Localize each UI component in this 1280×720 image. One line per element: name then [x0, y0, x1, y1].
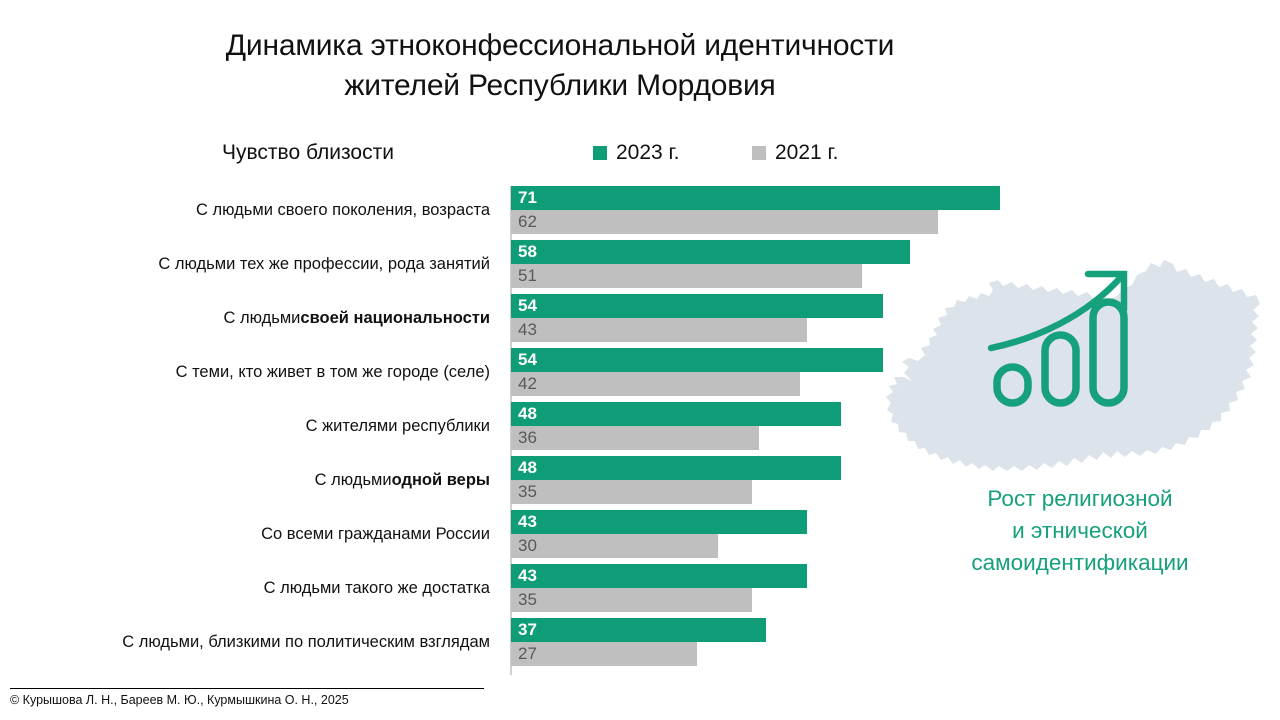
- legend-item-2021[interactable]: 2021 г.: [752, 138, 838, 168]
- bar-2023-value: 43: [511, 564, 537, 588]
- bar-2021[interactable]: 43: [511, 318, 807, 342]
- bar-2021-value: 36: [511, 426, 537, 450]
- bar-2021-value: 43: [511, 318, 537, 342]
- bar-2021-value: 42: [511, 372, 537, 396]
- legend-label-2023: 2023 г.: [616, 138, 679, 168]
- bar-2023[interactable]: 54: [511, 348, 883, 372]
- copyright-text: © Курышова Л. Н., Бареев М. Ю., Курмышки…: [10, 692, 484, 709]
- category-label: С людьми своей национальности: [223, 294, 490, 342]
- legend-label-2021: 2021 г.: [775, 138, 838, 168]
- category-label: С людьми такого же достатка: [264, 564, 490, 612]
- category-label: С людьми тех же профессии, рода занятий: [158, 240, 490, 288]
- category-label-emphasis: своей национальности: [300, 308, 490, 329]
- bar-2021-value: 35: [511, 480, 537, 504]
- bar-2021-value: 27: [511, 642, 537, 666]
- legend: Чувство близости 2023 г. 2021 г.: [0, 138, 1280, 172]
- bar-2023-value: 37: [511, 618, 537, 642]
- category-row: С людьми своего поколения, возраста7162: [0, 186, 1280, 234]
- bar-2021-value: 35: [511, 588, 537, 612]
- category-label: С людьми, близкими по политическим взгля…: [122, 618, 490, 666]
- bar-2023[interactable]: 58: [511, 240, 910, 264]
- legend-item-2023[interactable]: 2023 г.: [593, 138, 679, 168]
- growing-bars-icon: [997, 302, 1124, 403]
- category-row: С людьми, близкими по политическим взгля…: [0, 618, 1280, 666]
- bar-2023[interactable]: 43: [511, 564, 807, 588]
- bar-2023-value: 48: [511, 456, 537, 480]
- bar-2021[interactable]: 27: [511, 642, 697, 666]
- category-label-emphasis: одной веры: [392, 470, 490, 491]
- bar-2023-value: 43: [511, 510, 537, 534]
- bar-2021[interactable]: 35: [511, 588, 752, 612]
- bar-2023[interactable]: 71: [511, 186, 1000, 210]
- bar-2023-value: 58: [511, 240, 537, 264]
- bar-2023-value: 54: [511, 348, 537, 372]
- bar-2021[interactable]: 30: [511, 534, 718, 558]
- bar-2021-value: 30: [511, 534, 537, 558]
- legend-swatch-2023-icon: [593, 146, 607, 160]
- bar-2023[interactable]: 54: [511, 294, 883, 318]
- bar-2021[interactable]: 36: [511, 426, 759, 450]
- bar-2023[interactable]: 48: [511, 402, 841, 426]
- category-label: С теми, кто живет в том же городе (селе): [176, 348, 490, 396]
- category-label: С людьми одной веры: [315, 456, 490, 504]
- bar-2021[interactable]: 62: [511, 210, 938, 234]
- bar-2021[interactable]: 35: [511, 480, 752, 504]
- bar-2021-value: 62: [511, 210, 537, 234]
- bar-2021-value: 51: [511, 264, 537, 288]
- bar-2021[interactable]: 51: [511, 264, 862, 288]
- bar-2023[interactable]: 37: [511, 618, 766, 642]
- footer: © Курышова Л. Н., Бареев М. Ю., Курмышки…: [10, 688, 484, 709]
- side-graphic-caption: Рост религиозной и этнической самоиденти…: [885, 483, 1275, 579]
- category-label: С жителями республики: [306, 402, 490, 450]
- bar-2023-value: 48: [511, 402, 537, 426]
- bar-2023-value: 71: [511, 186, 537, 210]
- bar-2023[interactable]: 43: [511, 510, 807, 534]
- bar-2023-value: 54: [511, 294, 537, 318]
- category-label: Со всеми гражданами России: [261, 510, 490, 558]
- bar-2021[interactable]: 42: [511, 372, 800, 396]
- category-label: С людьми своего поколения, возраста: [196, 186, 490, 234]
- legend-swatch-2021-icon: [752, 146, 766, 160]
- axis-title: Чувство близости: [222, 138, 394, 168]
- bar-2023[interactable]: 48: [511, 456, 841, 480]
- growth-indicator-overlay: [885, 255, 1275, 480]
- side-graphic: Рост религиозной и этнической самоиденти…: [885, 255, 1275, 615]
- page-title: Динамика этноконфессиональной идентичнос…: [100, 26, 1020, 106]
